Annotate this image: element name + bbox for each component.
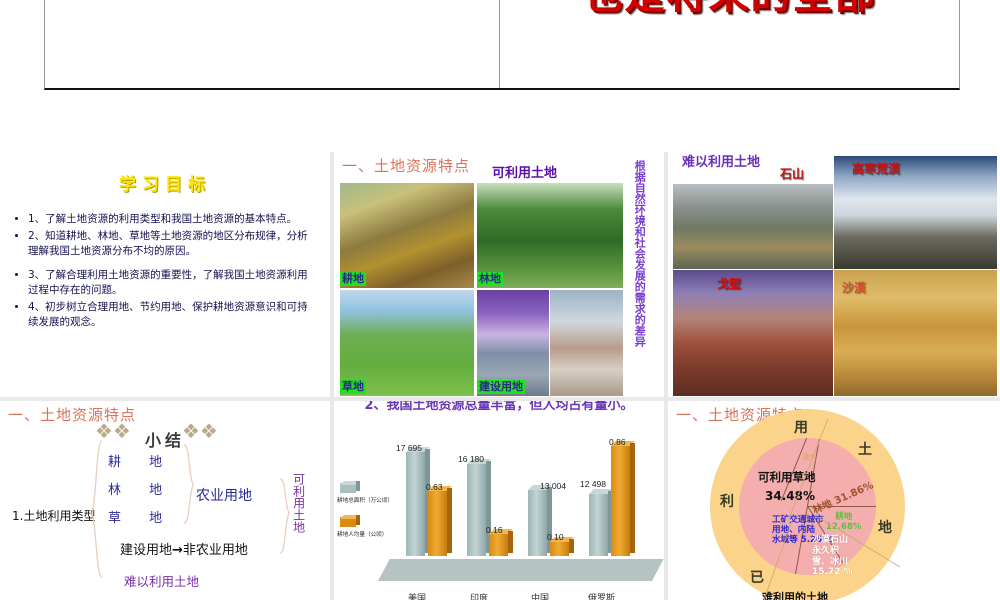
photo-grassland: 草地 (340, 290, 474, 396)
pie-bottom-label: 难利用的土地 (762, 589, 828, 600)
usable-land-side-text: 根据自然环境和社会发展的需求的差异 (634, 160, 645, 347)
bar-chart-title: 2、我国土地资源总量丰富，但人均占有量小。 (334, 401, 664, 414)
top-table-right-cell: 也是将来的全部 (500, 0, 959, 88)
slide-thumbnail-summary[interactable]: 一、土地资源特点 ❖❖ ❖❖ 小结 1.土地利用类型 耕 地 林 地 草 地 农… (0, 401, 330, 600)
slide-thumbnail-usable-land[interactable]: 一、土地资源特点 可利用土地 耕地 林地 草地 建设用地 根据自然环境和社会发展… (334, 152, 664, 397)
bar-total-area-1 (467, 464, 486, 556)
pie-label-grassland: 可利用草地 (758, 469, 816, 485)
bar-value-total-area-0: 17 695 (396, 443, 422, 453)
slide-thumbnail-learning-goals[interactable]: 学习目标 1、了解土地资源的利用类型和我国土地资源的基本特点。 2、知道耕地、林… (0, 152, 330, 397)
legend-label-total-area: 耕地总面积（万公顷） (337, 496, 393, 504)
legend-swatch-total-area (340, 481, 356, 493)
photo-forest: 林地 (477, 183, 623, 288)
list-item: 2、知道耕地、林地、草地等土地资源的地区分布规律，分析理解我国土地资源分布不均的… (28, 229, 314, 259)
photo-city-buildings (550, 290, 623, 396)
x-axis-label-3: 俄罗斯 (588, 591, 615, 600)
usable-land-subtitle: 可利用土地 (492, 162, 557, 181)
bar-per-capita-1 (489, 534, 508, 556)
bar-value-total-area-3: 12 498 (580, 479, 606, 489)
photo-gobi: 戈壁 (673, 270, 833, 396)
slide-handout-page: 也是将来的全部 学习目标 1、了解土地资源的利用类型和我国土地资源的基本特点。 … (0, 0, 1000, 600)
list-item: 4、初步树立合理用地、节约用地、保护耕地资源意识和可持续发展的观念。 (28, 300, 314, 330)
photo-label-farmland: 耕地 (340, 272, 366, 286)
bar-per-capita-3 (611, 446, 630, 556)
learning-goals-list: 1、了解土地资源的利用类型和我国土地资源的基本特点。 2、知道耕地、林地、草地等… (14, 212, 314, 333)
photo-desert: 沙漠 (834, 270, 997, 396)
slide-thumbnail-unusable-land[interactable]: 难以利用土地 石山 高寒荒漠 戈壁 沙漠 (668, 152, 1000, 397)
bar-value-per-capita-3: 0.86 (609, 437, 626, 447)
bar-total-area-3 (589, 494, 608, 556)
pie-value-desert-glacier: 15.72 % (812, 567, 853, 577)
summary-item-farmland: 耕 地 (108, 451, 174, 470)
bar-value-per-capita-2: 0.10 (547, 532, 564, 542)
photo-label-grassland: 草地 (340, 380, 366, 394)
photo-farmland: 耕地 (340, 183, 474, 288)
bar-value-per-capita-1: 0.16 (486, 525, 503, 535)
bar-value-total-area-1: 16 180 (458, 454, 484, 464)
land-use-type-label: 1.土地利用类型 (12, 507, 95, 524)
photo-city-waterfront: 建设用地 (477, 290, 549, 396)
ring-char-1: 利 (720, 491, 734, 511)
pie-label-desert-glacier: 沙漠石山永久积雪、冰川15.72 % (812, 535, 853, 578)
bar-chart-plot: 耕地总面积（万公顷） 耕地人均量（公顷） 17 695 0.63 美国 (334, 415, 664, 600)
summary-hard-to-use-land: 难以利用土地 (124, 571, 199, 590)
summary-usable-land-side: 可利用土地 (292, 473, 305, 533)
photo-label-construction: 建设用地 (477, 380, 525, 394)
summary-construction-land: 建设用地 (120, 543, 172, 558)
photo-label-forest: 林地 (477, 272, 503, 286)
slide-heading: 一、土地资源特点 (342, 155, 470, 176)
ring-char-3: 土 (858, 439, 872, 459)
learning-goals-title: 学习目标 (0, 170, 330, 195)
summary-non-agricultural-land: 非农业用地 (183, 543, 248, 558)
bar-total-area-2 (528, 490, 547, 556)
slide-thumbnail-bar-chart[interactable]: 2、我国土地资源总量丰富，但人均占有量小。 耕地总面积（万公顷） 耕地人均量（公… (334, 401, 664, 600)
ring-char-2: 用 (794, 417, 808, 437)
ring-char-4: 地 (878, 517, 892, 537)
top-table-left-cell (45, 0, 500, 88)
pie-max-label: 最大 (803, 451, 816, 461)
legend-label-per-capita: 耕地人均量（公顷） (337, 530, 387, 538)
photo-label-stone-mountain: 石山 (780, 165, 804, 182)
photo-label-desert: 沙漠 (842, 279, 866, 296)
unusable-land-title: 难以利用土地 (678, 155, 764, 171)
summary-construction-row: 建设用地→非农业用地 (120, 539, 248, 558)
summary-item-grassland: 草 地 (108, 507, 174, 526)
bar-value-per-capita-0: 0.63 (426, 482, 443, 492)
chart-floor (378, 559, 664, 581)
list-item: 3、了解合理利用土地资源的重要性，了解我国土地资源利用过程中存在的问题。 (28, 268, 314, 298)
photo-label-alpine-desert: 高寒荒漠 (852, 160, 900, 177)
pie-value-grassland: 34.48% (765, 489, 815, 503)
legend-swatch-per-capita (340, 515, 356, 527)
slide-thumbnail-pie-chart[interactable]: 一、土地资源特点 用 土 地 利 已 最大 (668, 401, 1000, 600)
summary-title: 小结 (0, 427, 330, 451)
summary-item-forest: 林 地 (108, 479, 174, 498)
list-item: 1、了解土地资源的利用类型和我国土地资源的基本特点。 (28, 212, 314, 227)
slide-thumbnail-grid: 学习目标 1、了解土地资源的利用类型和我国土地资源的基本特点。 2、知道耕地、林… (0, 152, 1000, 600)
bar-per-capita-0 (428, 491, 447, 556)
ring-char-0: 已 (750, 567, 764, 587)
top-table: 也是将来的全部 (44, 0, 960, 90)
pie-label-farmland-text: 耕地 (835, 512, 852, 522)
pie-chart: 用 土 地 利 已 最大 可利用草地 34.48% 林地 31.86% (710, 409, 905, 600)
summary-agricultural-land: 农业用地 (196, 485, 252, 505)
x-axis-label-2: 中国 (531, 591, 549, 600)
photo-alpine-desert: 高寒荒漠 (834, 156, 997, 269)
arrow-icon: → (172, 543, 183, 558)
bar-total-area-0 (406, 452, 425, 556)
bar-value-total-area-2: 13 004 (540, 481, 566, 491)
x-axis-label-0: 美国 (408, 591, 426, 600)
photo-stone-mountain (673, 184, 833, 269)
bar-per-capita-2 (550, 542, 569, 556)
x-axis-label-1: 印度 (470, 591, 488, 600)
photo-label-gobi: 戈壁 (717, 275, 741, 292)
page-title: 也是将来的全部 (583, 0, 877, 17)
